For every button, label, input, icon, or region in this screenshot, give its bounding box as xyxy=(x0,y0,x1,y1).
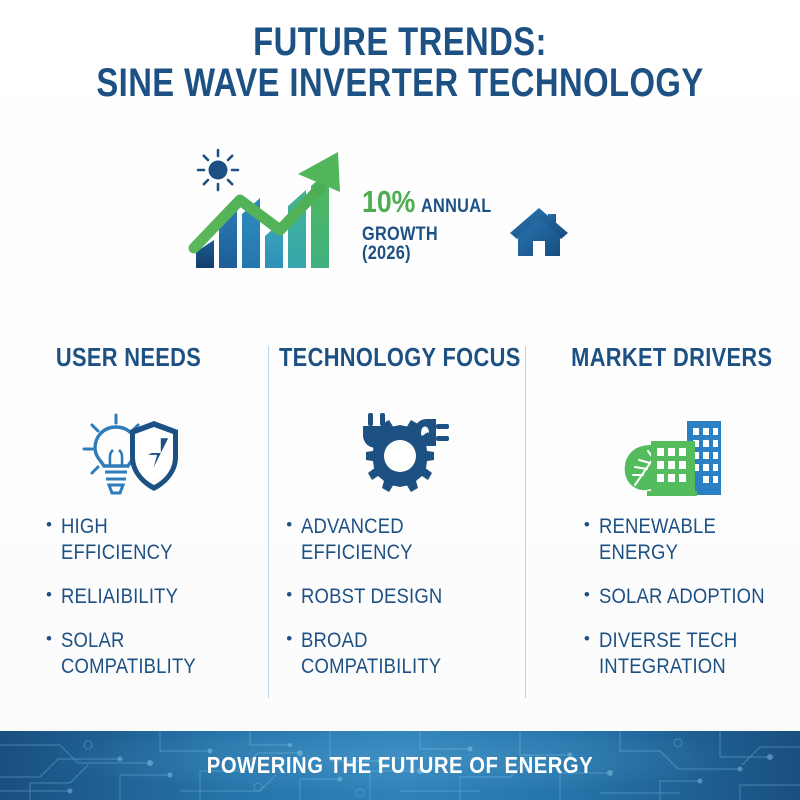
growth-stat: 10% ANNUAL GROWTH (2026) xyxy=(362,186,512,263)
list-item: • SOLAR COMPATIBLITY xyxy=(46,628,242,680)
list-item: • DIVERSE TECH INTEGRATION xyxy=(584,628,790,680)
title-line-1: FUTURE TRENDS: xyxy=(72,22,728,63)
column-heading-1: USER NEEDS xyxy=(55,342,200,373)
bullet-icon: • xyxy=(286,628,292,650)
bullet-icon: • xyxy=(286,584,292,606)
bullet-icon: • xyxy=(46,584,52,606)
list-item-label: RENEWABLE ENERGY xyxy=(599,514,767,566)
column-list-1: • HIGH EFFICIENCY • RELIAIBILITY • SOLAR… xyxy=(0,514,256,698)
title-line-2: SINE WAVE INVERTER TECHNOLOGY xyxy=(72,63,728,104)
three-column-section: USER NEEDS xyxy=(0,338,800,698)
footer-tagline: POWERING THE FUTURE OF ENERGY xyxy=(48,731,752,800)
list-item-label: ROBST DESIGN xyxy=(301,584,442,610)
lightbulb-shield-icon xyxy=(76,403,180,506)
leaf-buildings-icon xyxy=(617,403,727,506)
list-item-label: BROAD COMPATIBILITY xyxy=(301,628,502,680)
growth-chart-arrow-icon xyxy=(188,144,368,281)
list-item: • RELIAIBILITY xyxy=(46,584,242,610)
bullet-icon: • xyxy=(46,628,52,650)
hero-graphic: 10% ANNUAL GROWTH (2026) xyxy=(0,142,800,302)
column-list-2: • ADVANCED EFFICIENCY • ROBST DESIGN • B… xyxy=(256,514,544,698)
gear-plug-icon xyxy=(348,403,452,506)
column-technology-focus: TECHNOLOGY FOCUS xyxy=(256,338,544,698)
list-item-label: SOLAR COMPATIBLITY xyxy=(61,628,221,680)
infographic-poster: FUTURE TRENDS: SINE WAVE INVERTER TECHNO… xyxy=(0,0,800,800)
list-item: • HIGH EFFICIENCY xyxy=(46,514,242,566)
bullet-icon: • xyxy=(286,514,292,536)
column-market-drivers: MARKET DRIVERS xyxy=(544,338,800,698)
column-heading-2: TECHNOLOGY FOCUS xyxy=(279,342,521,373)
list-item-label: ADVANCED EFFICIENCY xyxy=(301,514,502,566)
list-item-label: SOLAR ADOPTION xyxy=(599,584,765,610)
list-item-label: DIVERSE TECH INTEGRATION xyxy=(599,628,767,680)
bullet-icon: • xyxy=(584,628,590,650)
footer-banner: POWERING THE FUTURE OF ENERGY xyxy=(0,731,800,800)
bullet-icon: • xyxy=(584,584,590,606)
stat-label-growth-year: GROWTH (2026) xyxy=(362,225,491,263)
page-title: FUTURE TRENDS: SINE WAVE INVERTER TECHNO… xyxy=(0,22,800,104)
list-item: • BROAD COMPATIBILITY xyxy=(286,628,530,680)
stat-percent: 10% xyxy=(362,186,415,217)
bullet-icon: • xyxy=(46,514,52,536)
column-heading-3: MARKET DRIVERS xyxy=(571,342,772,373)
list-item-label: RELIAIBILITY xyxy=(61,584,178,610)
sun-icon xyxy=(198,150,238,190)
list-item: • ADVANCED EFFICIENCY xyxy=(286,514,530,566)
list-item: • ROBST DESIGN xyxy=(286,584,530,610)
column-user-needs: USER NEEDS xyxy=(0,338,256,698)
column-list-3: • RENEWABLE ENERGY • SOLAR ADOPTION • DI… xyxy=(544,514,800,698)
list-item: • SOLAR ADOPTION xyxy=(584,584,790,610)
house-icon xyxy=(508,206,570,263)
list-item-label: HIGH EFFICIENCY xyxy=(61,514,221,566)
list-item: • RENEWABLE ENERGY xyxy=(584,514,790,566)
stat-label-annual: ANNUAL xyxy=(421,197,492,216)
bullet-icon: • xyxy=(584,514,590,536)
